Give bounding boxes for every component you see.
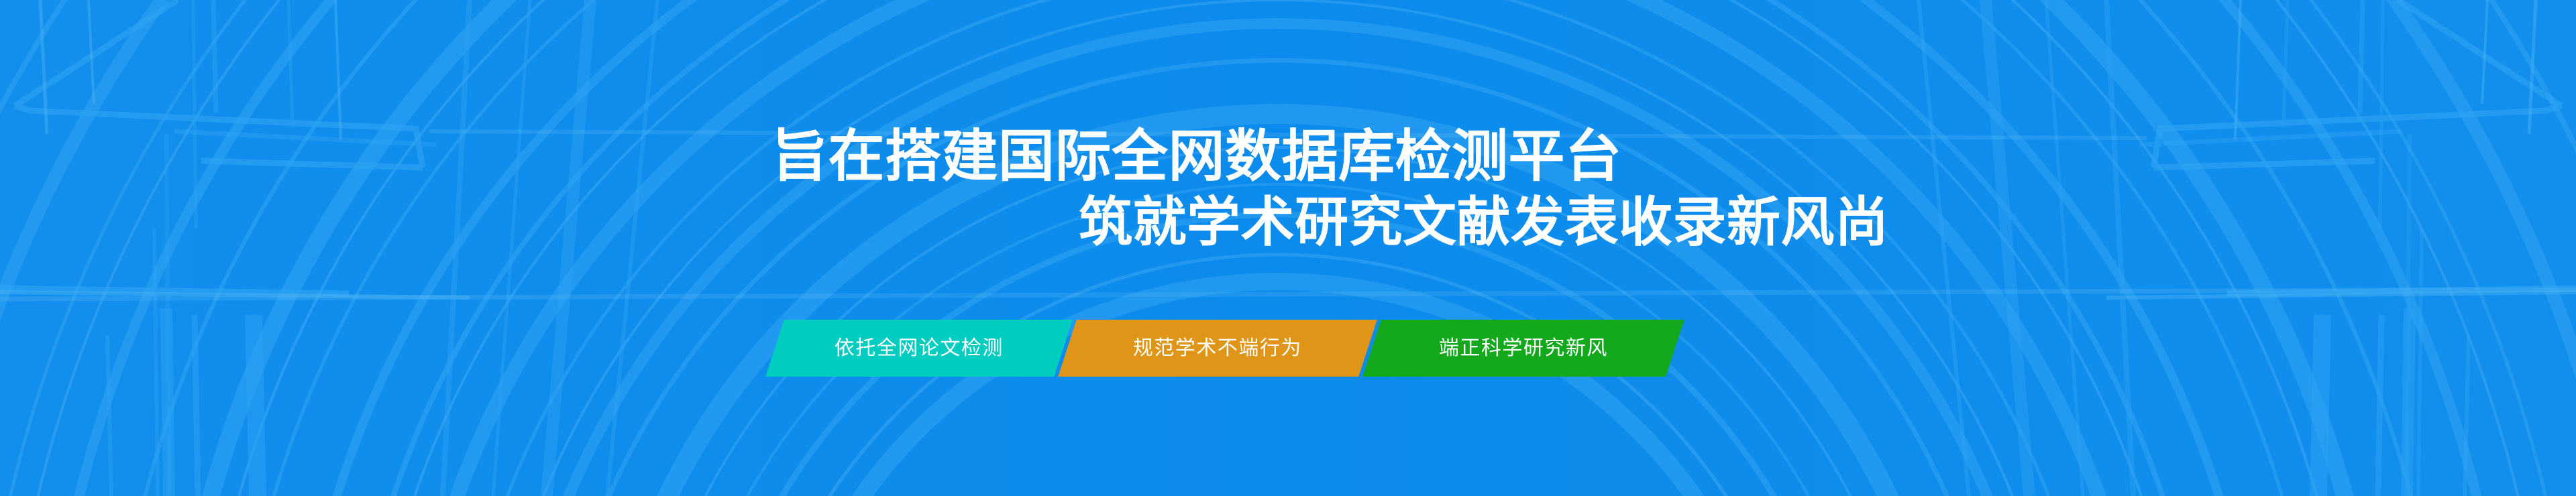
feature-tag-strip: 依托全网论文检测 规范学术不端行为 端正科学研究新风 (775, 320, 1675, 377)
promo-banner: 旨在搭建国际全网数据库检测平台 筑就学术研究文献发表收录新风尚 依托全网论文检测… (0, 0, 2576, 496)
banner-content: 旨在搭建国际全网数据库检测平台 筑就学术研究文献发表收录新风尚 依托全网论文检测… (0, 0, 2576, 496)
feature-tag-label: 端正科学研究新风 (1439, 338, 1608, 359)
feature-tag-academic-misconduct[interactable]: 规范学术不端行为 (1058, 320, 1377, 377)
headline-line-2: 筑就学术研究文献发表收录新风尚 (1079, 192, 1889, 253)
feature-tag-label: 规范学术不端行为 (1133, 338, 1302, 359)
feature-tag-plagiarism-detection[interactable]: 依托全网论文检测 (765, 320, 1073, 377)
feature-tag-label: 依托全网论文检测 (835, 338, 1004, 359)
headline-line-1: 旨在搭建国际全网数据库检测平台 (771, 125, 1622, 188)
feature-tag-research-integrity[interactable]: 端正科学研究新风 (1362, 320, 1684, 377)
